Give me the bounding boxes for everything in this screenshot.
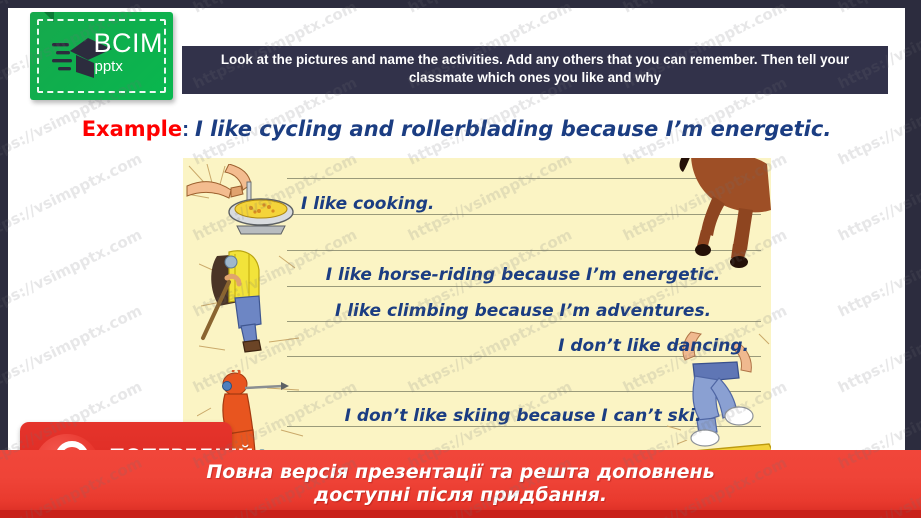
instruction-bar: Look at the pictures and name the activi…	[182, 46, 888, 94]
worksheet-sentence: I like cooking.	[287, 196, 759, 213]
example-colon: :	[182, 118, 189, 141]
logo-title: BCIM	[94, 30, 164, 57]
worksheet-sentence: I don’t like dancing.	[287, 338, 759, 355]
hiker-backpack-illustration	[199, 246, 301, 358]
logo-text: BCIM pptx	[94, 30, 164, 74]
purchase-notice-line2: доступні після придбання.	[314, 484, 607, 507]
worksheet-image: I like cooking. I like horse-riding beca…	[183, 158, 771, 488]
banner-base-strip	[0, 510, 921, 518]
rule-line	[287, 321, 761, 322]
bcim-pptx-logo: BCIM pptx	[30, 12, 173, 100]
slide-viewer: BCIM pptx Look at the pictures and name …	[0, 0, 921, 518]
logo-subtitle: pptx	[95, 59, 164, 74]
slide-canvas: BCIM pptx Look at the pictures and name …	[8, 8, 905, 510]
example-label: Example	[82, 117, 182, 141]
cooking-pan-illustration	[185, 164, 297, 242]
worksheet-sentence: I like climbing because I’m adventures.	[287, 303, 759, 320]
worksheet-sentence: I like horse-riding because I’m energeti…	[287, 267, 759, 284]
worksheet-sentence: I don’t like skiing because I can’t ski.	[287, 408, 759, 425]
rule-line	[287, 286, 761, 287]
purchase-notice-line1: Повна версія презентації та решта доповн…	[206, 461, 714, 484]
horse-illustration	[653, 158, 771, 274]
purchase-notice-banner: Повна версія презентації та решта доповн…	[0, 450, 921, 518]
example-sentence: I like cycling and rollerblading because…	[195, 117, 831, 141]
example-line: Example: I like cycling and rollerbladin…	[8, 118, 905, 141]
